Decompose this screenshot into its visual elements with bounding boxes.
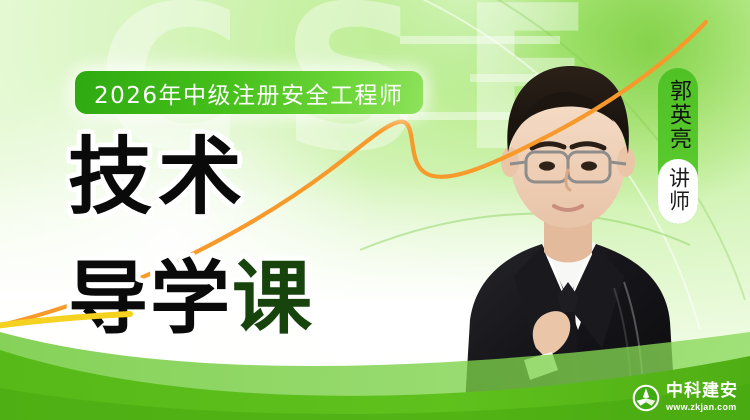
course-badge: 2026年中级注册安全工程师 — [75, 71, 423, 114]
compass-star-icon — [632, 384, 660, 412]
instructor-name: 郭英亮 — [665, 68, 691, 159]
instructor-role-container: 讲师 — [658, 159, 698, 224]
instructor-role: 讲师 — [666, 159, 691, 224]
headline-line-1: 技术 — [68, 130, 398, 224]
brand-logo[interactable]: 中科建安 www.zkjan.com — [632, 383, 738, 412]
brand-logo-text: 中科建安 www.zkjan.com — [666, 383, 738, 412]
brand-name: 中科建安 — [666, 383, 738, 400]
course-badge-label: 2026年中级注册安全工程师 — [94, 76, 404, 110]
brand-url: www.zkjan.com — [666, 403, 738, 412]
course-banner: CSE — [0, 0, 750, 420]
instructor-badge: 郭英亮 讲师 — [658, 68, 698, 224]
